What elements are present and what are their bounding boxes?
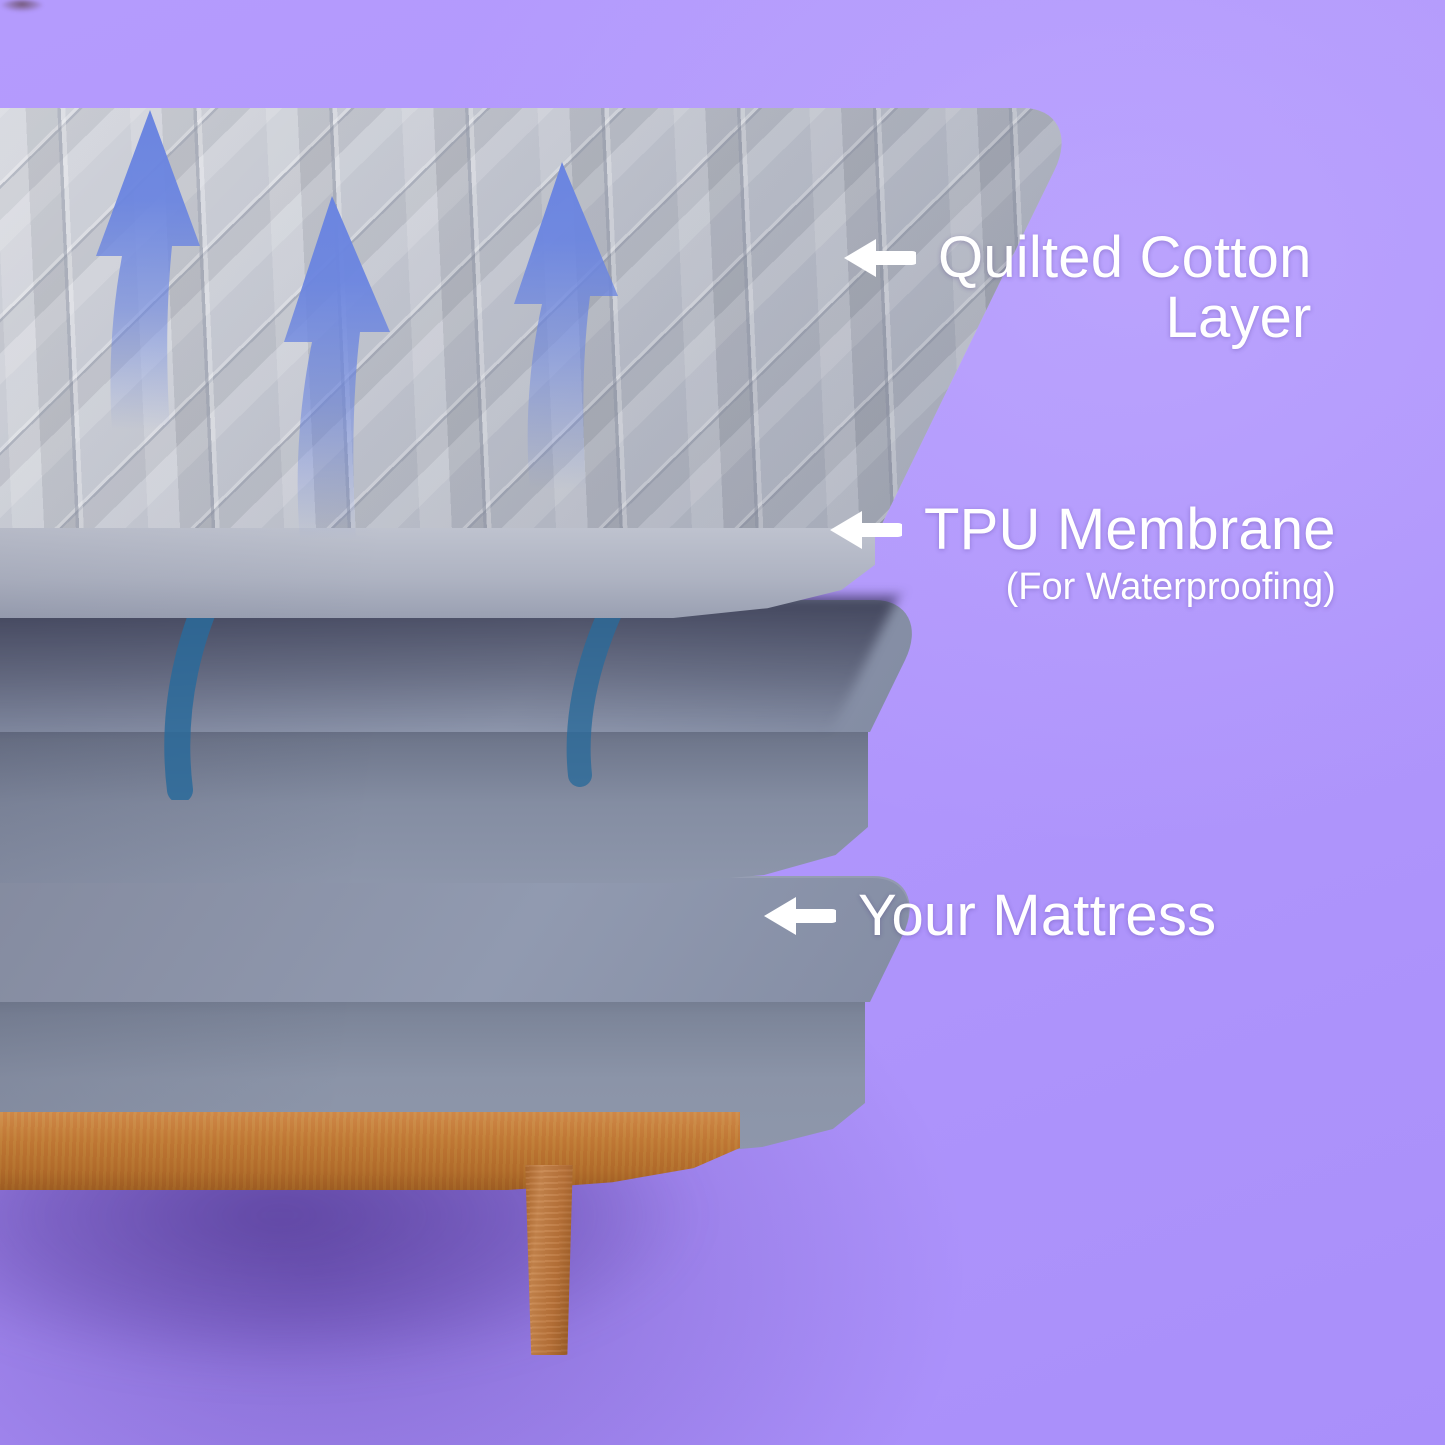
product-infographic: Quilted Cotton Layer TPU Membrane (For W… — [0, 0, 1445, 1445]
left-arrow-icon — [828, 506, 902, 554]
airflow-arrow-right — [514, 162, 618, 490]
annotation-subtitle: (For Waterproofing) — [924, 566, 1336, 610]
annotation-quilted-cotton: Quilted Cotton Layer — [842, 228, 1422, 349]
bed-frame-rail — [0, 1112, 740, 1190]
airflow-arrow-center — [284, 196, 390, 540]
annotation-your-mattress: Your Mattress — [762, 886, 1322, 946]
airflow-arrows-group — [0, 70, 900, 590]
annotation-tpu-membrane: TPU Membrane (For Waterproofing) — [828, 500, 1408, 610]
left-arrow-icon — [842, 234, 916, 282]
annotation-title: Quilted Cotton Layer — [938, 228, 1312, 349]
bed-leg-contact-shadow — [0, 0, 44, 12]
annotation-title: TPU Membrane — [924, 500, 1336, 560]
airflow-arrow-left — [96, 110, 200, 430]
left-arrow-icon — [762, 892, 836, 940]
annotation-title: Your Mattress — [858, 886, 1216, 946]
